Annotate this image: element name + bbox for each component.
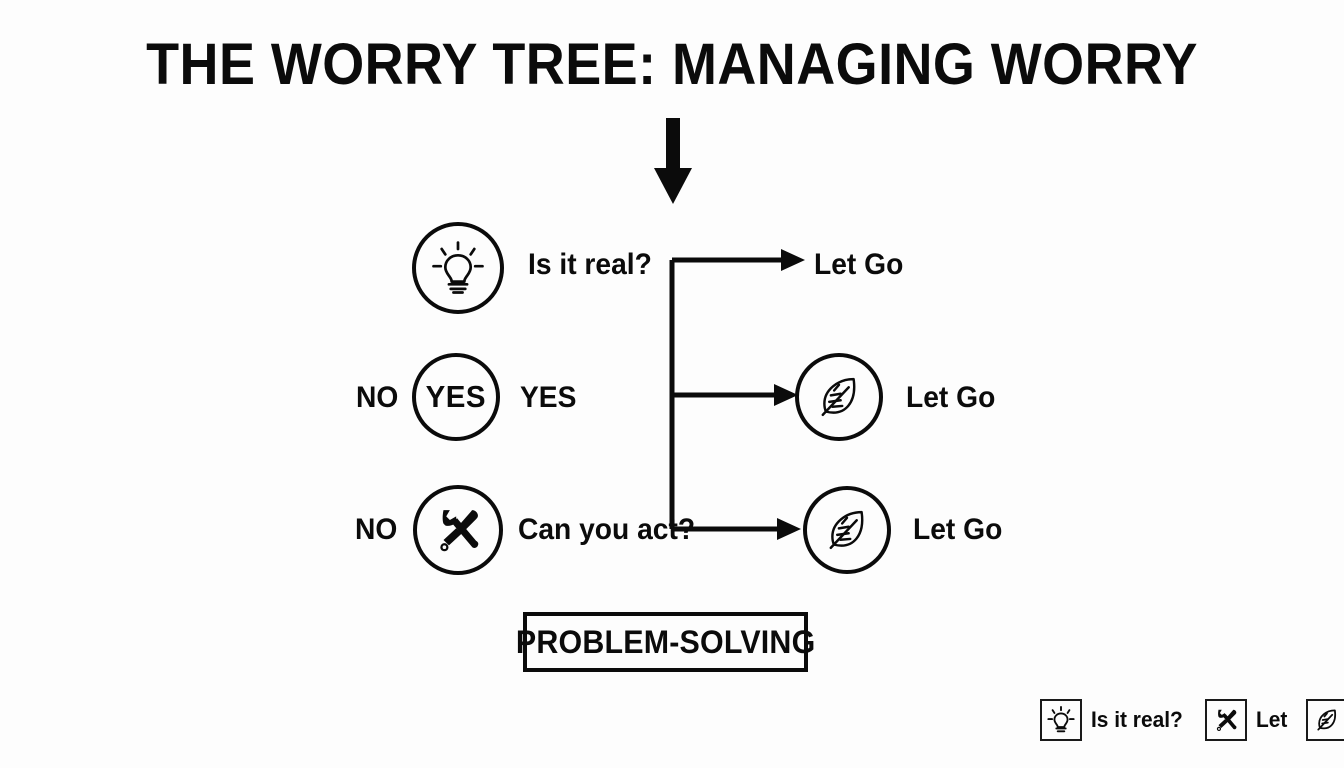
question-is-it-real: Is it real? (528, 250, 652, 280)
outcome-let-go-row1: Let Go (814, 250, 903, 280)
outcome-let-go-row3: Let Go (913, 515, 1002, 545)
leaf-icon-row2 (795, 353, 883, 441)
yes-circle: YES (412, 353, 500, 441)
problem-solving-label: PROBLEM-SOLVING (516, 624, 816, 661)
legend-tools-icon (1205, 699, 1247, 741)
legend-label-is-it-real: Is it real? (1091, 709, 1183, 731)
no-label-row2: NO (356, 383, 398, 413)
leaf-icon-row3 (803, 486, 891, 574)
legend-label-let: Let (1256, 709, 1287, 731)
lightbulb-icon (412, 222, 504, 314)
outcome-let-go-row2: Let Go (906, 383, 995, 413)
tools-icon (413, 485, 503, 575)
question-can-you-act: Can you act? (518, 515, 695, 545)
legend-lightbulb-icon (1040, 699, 1082, 741)
answer-yes-row2: YES (520, 383, 576, 413)
no-label-row3: NO (355, 515, 397, 545)
problem-solving-box: PROBLEM-SOLVING (523, 612, 808, 672)
yes-circle-label: YES (426, 379, 486, 415)
legend-leaf-icon (1306, 699, 1344, 741)
page-title: THE WORRY TREE: MANAGING WORRY (47, 36, 1297, 94)
legend-strip: Is it real? Let (1040, 698, 1344, 742)
down-arrow-icon (652, 118, 694, 204)
worry-tree-infographic: THE WORRY TREE: MANAGING WORRY Is it rea… (0, 0, 1344, 768)
